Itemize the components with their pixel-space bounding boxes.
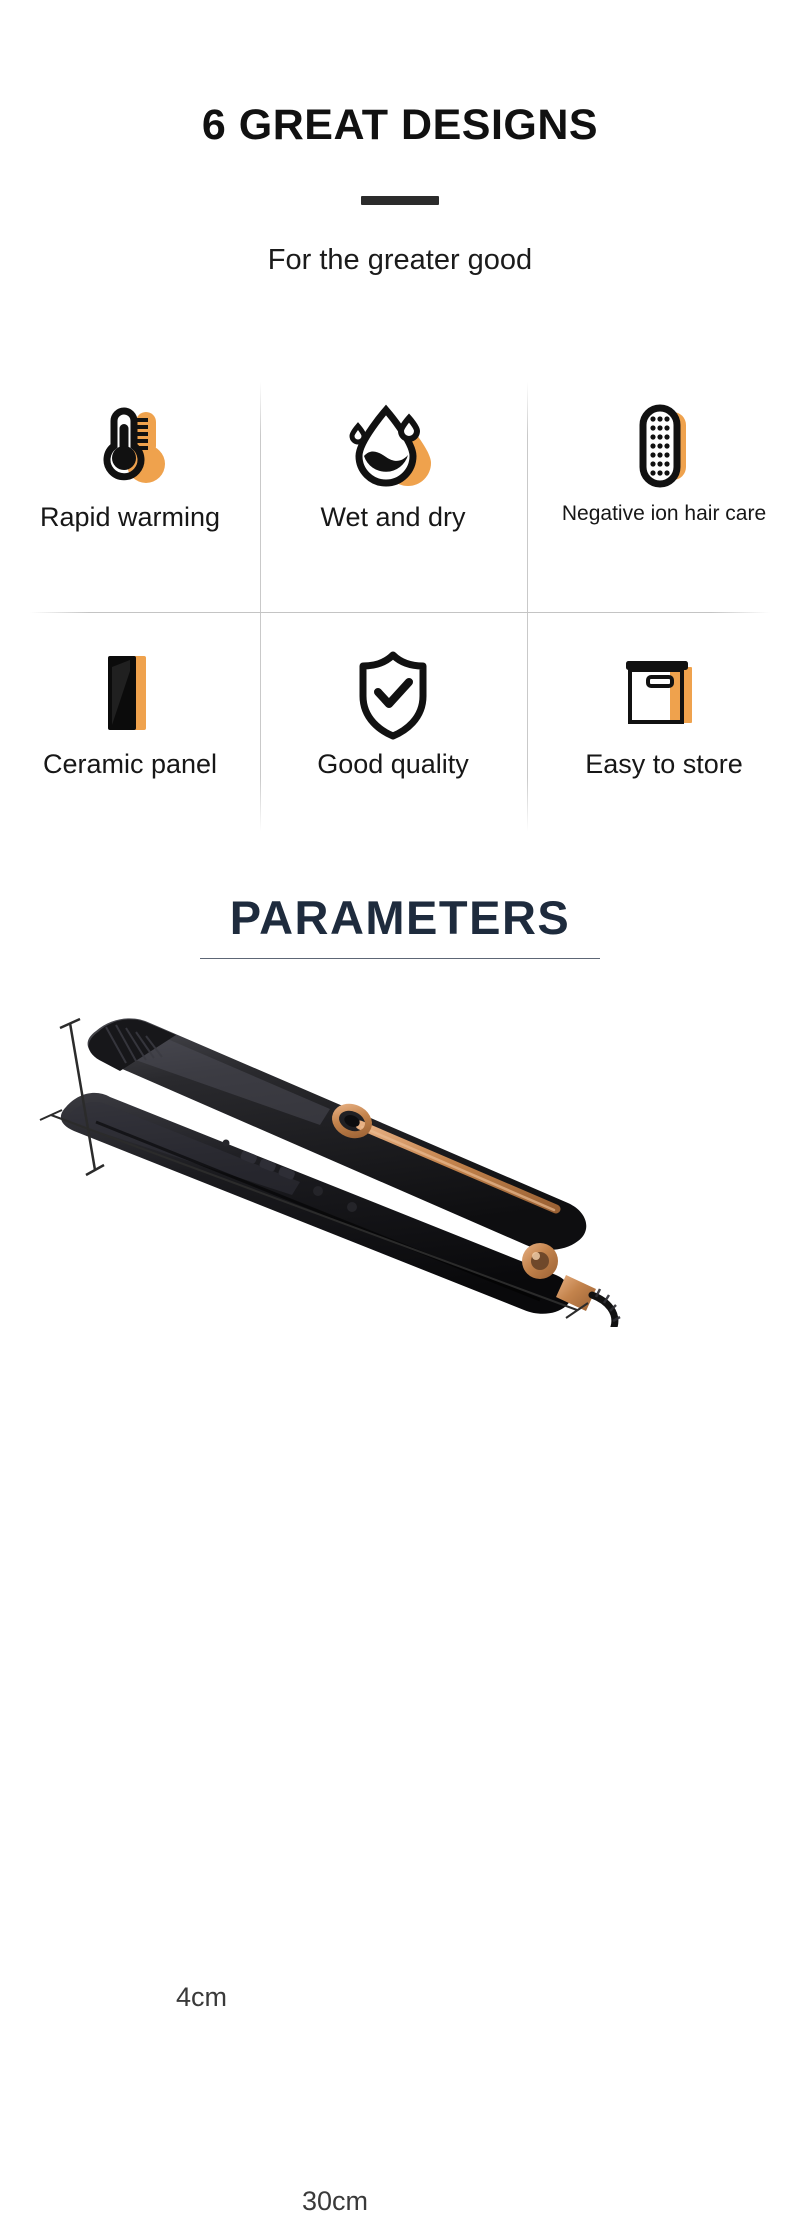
feature-item-rapid-warming: Rapid warming: [0, 390, 260, 533]
feature-label: Rapid warming: [0, 502, 260, 533]
grid-divider-vertical-1: [260, 382, 261, 832]
feature-item-negative-ion: Negative ion hair care: [528, 390, 800, 526]
feature-label: Negative ion hair care: [528, 502, 800, 526]
page-subtitle: For the greater good: [0, 243, 800, 278]
storage-box-icon: [528, 637, 800, 749]
feature-grid: Rapid warming Wet and dry: [0, 372, 800, 842]
dimension-label-length: 30cm: [302, 2186, 368, 2217]
feature-label: Ceramic panel: [0, 749, 260, 780]
product-image: 4cm 30cm: [0, 975, 800, 1327]
page-title: 6 GREAT DESIGNS: [0, 104, 800, 147]
grid-divider-horizontal: [30, 612, 770, 613]
feature-item-ceramic-panel: Ceramic panel: [0, 637, 260, 780]
title-divider: [361, 196, 439, 205]
feature-item-wet-and-dry: Wet and dry: [263, 390, 523, 533]
dimension-label-width: 4cm: [176, 1982, 227, 2013]
product-infographic: 6 GREAT DESIGNS For the greater good: [0, 0, 800, 1327]
feature-item-good-quality: Good quality: [263, 637, 523, 780]
thermometer-icon: [0, 390, 260, 502]
feature-item-easy-to-store: Easy to store: [528, 637, 800, 780]
feature-label: Easy to store: [528, 749, 800, 780]
feature-label: Good quality: [263, 749, 523, 780]
ceramic-plate-icon: [0, 637, 260, 749]
feature-label: Wet and dry: [263, 502, 523, 533]
ion-capsule-icon: [528, 390, 800, 502]
parameters-divider: [200, 958, 600, 959]
shield-check-icon: [263, 637, 523, 749]
water-drop-icon: [263, 390, 523, 502]
parameters-heading: PARAMETERS: [0, 894, 800, 941]
